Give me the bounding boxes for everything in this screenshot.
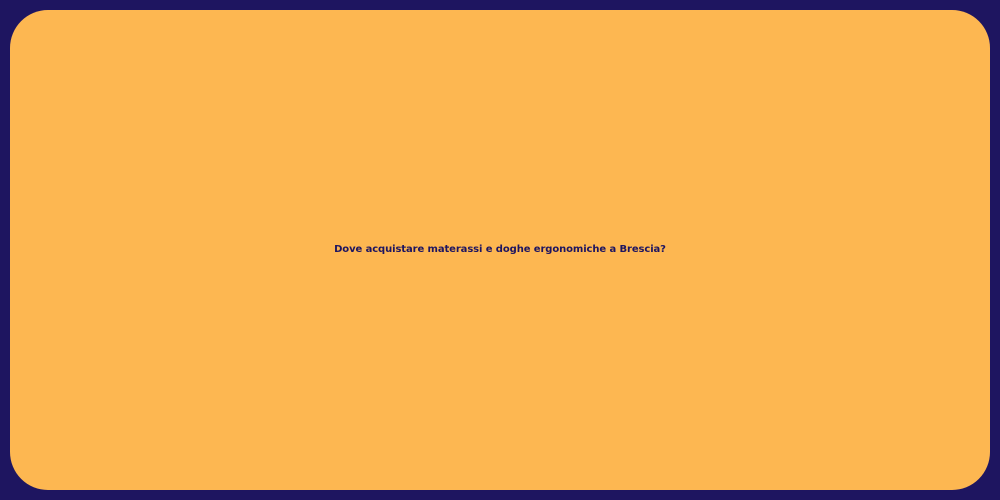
banner-root: Dove acquistare materassi e doghe ergono… — [0, 0, 1000, 500]
banner-card: Dove acquistare materassi e doghe ergono… — [10, 10, 990, 490]
headline-text: Dove acquistare materassi e doghe ergono… — [10, 244, 990, 257]
